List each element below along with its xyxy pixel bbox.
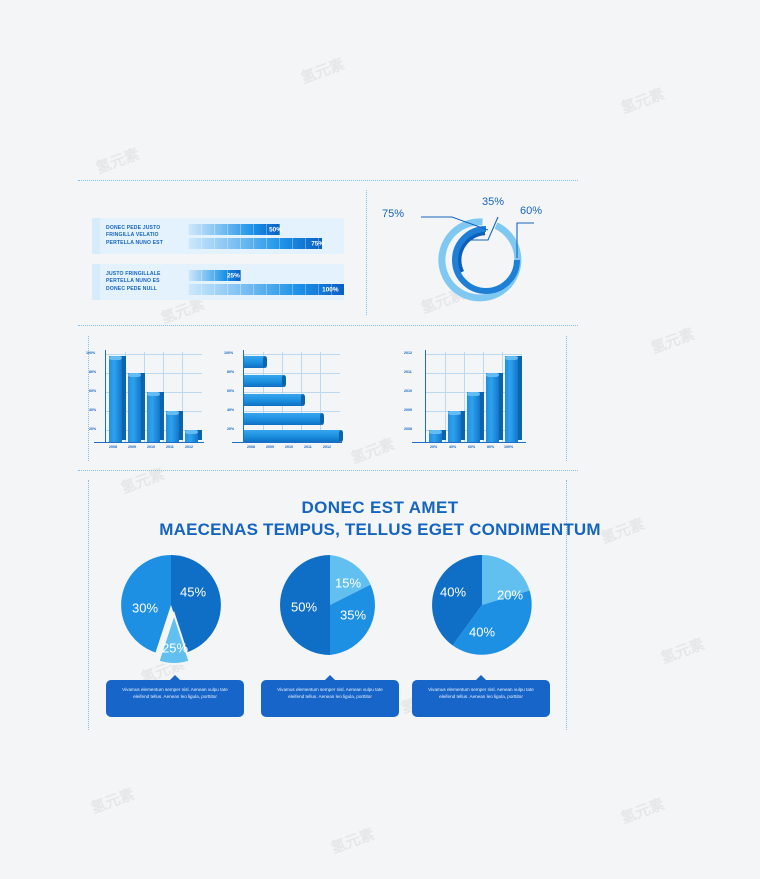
column-bar[interactable] bbox=[429, 430, 442, 442]
column-side bbox=[179, 411, 183, 440]
pie-2-label-35: 35% bbox=[340, 608, 366, 623]
column-bar[interactable] bbox=[147, 392, 160, 442]
column-face bbox=[505, 356, 518, 442]
column-bar[interactable] bbox=[467, 392, 480, 442]
gridline bbox=[244, 392, 340, 393]
column-face bbox=[448, 411, 461, 442]
gridline bbox=[106, 354, 202, 355]
gauge-label-60: 60% bbox=[520, 205, 542, 217]
caption-text: Vivamus elementum semper nisl. Aenean vu… bbox=[428, 687, 534, 699]
x-tick: 80% bbox=[487, 445, 494, 449]
watermark: 氢元素 bbox=[618, 793, 667, 828]
progress-value-label: 75% bbox=[311, 240, 324, 247]
column-bar[interactable] bbox=[448, 411, 461, 442]
caption-tail bbox=[476, 675, 486, 680]
x-tick: 2010 bbox=[147, 445, 155, 449]
pie-chart-3-svg bbox=[425, 550, 540, 660]
column-cap bbox=[166, 411, 179, 415]
progress-group-1-label: DONEC PEDE JUSTO FRINGILLA VELATIO PERTE… bbox=[106, 225, 184, 247]
progress-value-label: 100% bbox=[322, 286, 338, 293]
x-tick: 2009 bbox=[128, 445, 136, 449]
y-tick: 100% bbox=[224, 351, 233, 355]
column-cap bbox=[486, 373, 499, 377]
label-line: PERTELLA NUNO EST bbox=[106, 240, 184, 247]
column-side bbox=[461, 411, 465, 440]
y-tick: 80% bbox=[227, 370, 234, 374]
guide-rule-vertical-split bbox=[366, 190, 367, 315]
column-cap bbox=[185, 430, 198, 434]
x-tick: 2008 bbox=[247, 445, 255, 449]
progress-bar-50[interactable]: 50% bbox=[188, 224, 344, 235]
x-axis bbox=[232, 442, 342, 443]
x-tick: 40% bbox=[449, 445, 456, 449]
pie-2-label-50: 50% bbox=[291, 600, 317, 615]
bar-cap bbox=[320, 413, 324, 425]
column-face bbox=[109, 356, 122, 442]
column-side bbox=[442, 430, 446, 440]
column-face bbox=[128, 373, 141, 442]
label-line: FRINGILLA VELATIO bbox=[106, 232, 184, 239]
guide-rule-mid-2 bbox=[78, 470, 578, 471]
label-line: DONEC PEDE JUSTO bbox=[106, 225, 184, 232]
bar-cap bbox=[263, 356, 267, 368]
column-cap bbox=[429, 430, 442, 434]
watermark: 氢元素 bbox=[648, 323, 697, 358]
watermark: 氢元素 bbox=[118, 463, 167, 498]
bar-face bbox=[244, 375, 283, 387]
column-side bbox=[141, 373, 145, 440]
horizontal-bar[interactable] bbox=[244, 375, 283, 387]
column-bar[interactable] bbox=[128, 373, 141, 442]
pie-2-caption[interactable]: Vivamus elementum semper nisl. Aenean vu… bbox=[261, 680, 399, 717]
y-tick: 40% bbox=[89, 408, 96, 412]
column-side bbox=[198, 430, 202, 440]
x-tick: 2011 bbox=[304, 445, 312, 449]
y-axis bbox=[105, 350, 106, 442]
pie-3-label-20: 20% bbox=[497, 588, 523, 603]
progress-value-label: 50% bbox=[269, 226, 282, 233]
gridline bbox=[320, 352, 321, 442]
guide-rule-vertical-right bbox=[566, 336, 567, 461]
bar-cap bbox=[339, 430, 343, 442]
bar-face bbox=[244, 356, 264, 368]
column-cap bbox=[147, 392, 160, 396]
column-bar[interactable] bbox=[505, 356, 518, 442]
pie-chart-2: 15% 35% 50% bbox=[275, 550, 390, 660]
x-tick: 2008 bbox=[109, 445, 117, 449]
progress-value-label: 25% bbox=[227, 272, 240, 279]
pie-chart-3: 40% 40% 20% bbox=[425, 550, 540, 660]
y-tick: 2012 bbox=[404, 351, 412, 355]
column-cap bbox=[505, 356, 518, 360]
page-title-line-2: MAECENAS TEMPUS, TELLUS EGET CONDIMENTUM bbox=[0, 520, 760, 540]
column-cap bbox=[467, 392, 480, 396]
x-tick: 2009 bbox=[266, 445, 274, 449]
y-tick: 2010 bbox=[404, 389, 412, 393]
caption-tail bbox=[170, 675, 180, 680]
watermark: 氢元素 bbox=[658, 633, 707, 668]
x-axis bbox=[94, 442, 204, 443]
panel-accent-strip bbox=[92, 218, 100, 254]
column-chart-descending: 100% 80% 60% 40% 20% bbox=[84, 348, 204, 456]
y-tick: 60% bbox=[89, 389, 96, 393]
column-chart-ascending: 2012 2011 2010 2009 2008 bbox=[396, 348, 526, 456]
gridline bbox=[244, 373, 340, 374]
radial-gauge-chart: 75% 35% 60% bbox=[400, 196, 575, 311]
column-face bbox=[166, 411, 179, 442]
radial-gauge-svg bbox=[400, 196, 575, 311]
x-tick: 60% bbox=[468, 445, 475, 449]
x-tick: 2012 bbox=[185, 445, 193, 449]
y-tick: 2008 bbox=[404, 427, 412, 431]
guide-rule-mid-1 bbox=[78, 325, 578, 326]
label-line: DONEC PEDE NULL bbox=[106, 286, 184, 293]
gridline bbox=[445, 352, 446, 442]
progress-bar-group-2: JUSTO FRINGILLALE PERTELLA NUNO ES DONEC… bbox=[92, 264, 344, 300]
progress-fill bbox=[188, 238, 322, 249]
y-tick: 2009 bbox=[404, 408, 412, 412]
column-bar[interactable] bbox=[166, 411, 179, 442]
pie-3-caption[interactable]: Vivamus elementum semper nisl. Aenean vu… bbox=[412, 680, 550, 717]
y-tick: 100% bbox=[86, 351, 95, 355]
label-line: PERTELLA NUNO ES bbox=[106, 278, 184, 285]
bar-cap bbox=[301, 394, 305, 406]
pie-3-label-40-dark: 40% bbox=[440, 585, 466, 600]
pie-2-label-15: 15% bbox=[335, 576, 361, 591]
gauge-label-75: 75% bbox=[382, 208, 404, 220]
y-tick: 20% bbox=[89, 427, 96, 431]
column-face bbox=[467, 392, 480, 442]
watermark: 氢元素 bbox=[88, 783, 137, 818]
y-tick: 80% bbox=[89, 370, 96, 374]
x-tick: 2012 bbox=[323, 445, 331, 449]
column-side bbox=[160, 392, 164, 440]
gridline bbox=[244, 411, 340, 412]
infographic-canvas: 氢元素 氢元素 氢元素 氢元素 氢元素 氢元素 氢元素 氢元素 氢元素 氢元素 … bbox=[0, 0, 760, 879]
pie-chart-1: 45% 30% 25% bbox=[112, 550, 237, 670]
column-face bbox=[147, 392, 160, 442]
column-side bbox=[122, 356, 126, 440]
column-bar[interactable] bbox=[185, 430, 198, 442]
column-cap bbox=[448, 411, 461, 415]
progress-fill bbox=[188, 224, 280, 235]
column-bar[interactable] bbox=[109, 356, 122, 442]
watermark: 氢元素 bbox=[618, 83, 667, 118]
y-axis bbox=[425, 350, 426, 442]
gridline bbox=[244, 354, 340, 355]
pie-1-caption[interactable]: Vivamus elementum semper nisl. Aenean vu… bbox=[106, 680, 244, 717]
y-tick: 2011 bbox=[404, 370, 412, 374]
pie-1-label-30: 30% bbox=[132, 601, 158, 616]
page-title-line-1: DONEC EST AMET bbox=[0, 498, 760, 518]
column-face bbox=[486, 373, 499, 442]
progress-bar-25[interactable]: 25% bbox=[188, 270, 344, 281]
watermark: 氢元素 bbox=[93, 143, 142, 178]
caption-text: Vivamus elementum semper nisl. Aenean vu… bbox=[277, 687, 383, 699]
progress-rows: 50% 75% bbox=[188, 218, 344, 254]
bar-face bbox=[244, 413, 321, 425]
guide-rule-top bbox=[78, 180, 578, 181]
progress-bar-75[interactable]: 75% bbox=[188, 238, 344, 249]
progress-bar-100[interactable]: 100% bbox=[188, 284, 344, 295]
bar-face bbox=[244, 394, 302, 406]
pie-1-label-45: 45% bbox=[180, 585, 206, 600]
x-tick: 2011 bbox=[166, 445, 174, 449]
column-bar[interactable] bbox=[486, 373, 499, 442]
column-cap bbox=[128, 373, 141, 377]
horizontal-bar-chart-ascending: 100% 80% 60% 40% 20% 2008 2009 2010 2011… bbox=[222, 348, 342, 456]
x-tick: 2010 bbox=[285, 445, 293, 449]
horizontal-bar[interactable] bbox=[244, 394, 302, 406]
pie-1-label-25: 25% bbox=[162, 641, 188, 656]
gauge-label-35: 35% bbox=[482, 196, 504, 208]
column-side bbox=[518, 356, 522, 440]
progress-fill bbox=[188, 284, 344, 295]
bar-cap bbox=[282, 375, 286, 387]
watermark: 氢元素 bbox=[328, 823, 377, 858]
caption-text: Vivamus elementum semper nisl. Aenean vu… bbox=[122, 687, 228, 699]
x-tick: 20% bbox=[430, 445, 437, 449]
pie-3-label-40-mid: 40% bbox=[469, 625, 495, 640]
gridline bbox=[426, 354, 522, 355]
label-line: JUSTO FRINGILLALE bbox=[106, 271, 184, 278]
y-tick: 60% bbox=[227, 389, 234, 393]
horizontal-bar[interactable] bbox=[244, 430, 340, 442]
watermark: 氢元素 bbox=[298, 53, 347, 88]
bar-face bbox=[244, 430, 340, 442]
x-axis bbox=[412, 442, 526, 443]
progress-rows: 25% 100% bbox=[188, 264, 344, 300]
progress-bar-group-1: DONEC PEDE JUSTO FRINGILLA VELATIO PERTE… bbox=[92, 218, 344, 254]
watermark: 氢元素 bbox=[348, 433, 397, 468]
column-side bbox=[499, 373, 503, 440]
x-tick: 100% bbox=[504, 445, 513, 449]
y-tick: 20% bbox=[227, 427, 234, 431]
panel-accent-strip bbox=[92, 264, 100, 300]
column-side bbox=[480, 392, 484, 440]
progress-group-2-label: JUSTO FRINGILLALE PERTELLA NUNO ES DONEC… bbox=[106, 271, 184, 293]
column-cap bbox=[109, 356, 122, 360]
horizontal-bar[interactable] bbox=[244, 413, 321, 425]
caption-tail bbox=[325, 675, 335, 680]
y-tick: 40% bbox=[227, 408, 234, 412]
horizontal-bar[interactable] bbox=[244, 356, 264, 368]
